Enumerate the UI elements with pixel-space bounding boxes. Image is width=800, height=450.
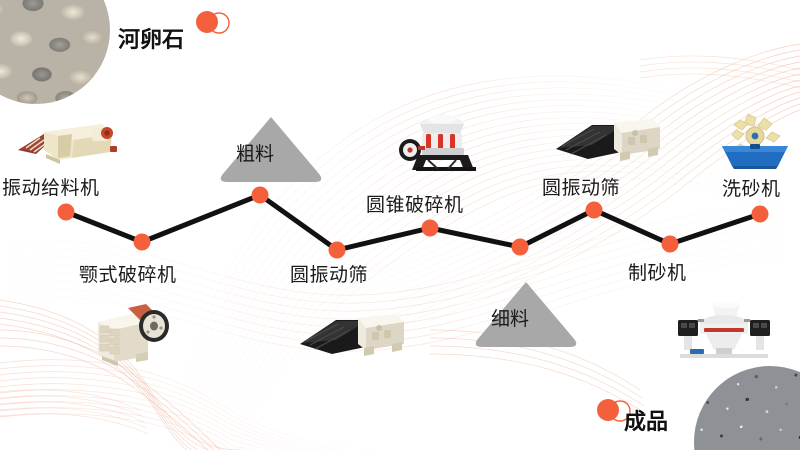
label-vibrating-screen-right: 圆振动筛: [542, 173, 620, 200]
flow-node-dot: [752, 206, 769, 223]
flow-node-dot: [422, 220, 439, 237]
flow-node-dot: [586, 202, 603, 219]
flow-node-dot: [134, 234, 151, 251]
flow-node-dot: [662, 236, 679, 253]
label-jaw-crusher: 颚式破碎机: [79, 260, 177, 287]
label-vibrating-screen-left: 圆振动筛: [290, 260, 368, 287]
label-vibrating-feeder: 振动给料机: [2, 173, 100, 200]
process-flow-diagram: 河卵石 粗料 细料: [0, 0, 800, 450]
flow-node-dot: [329, 242, 346, 259]
label-cone-crusher: 圆锥破碎机: [366, 190, 464, 217]
flow-node-dot: [252, 187, 269, 204]
flow-node-dot: [58, 204, 75, 221]
finished-product-label: 成品: [624, 404, 668, 436]
flow-node-dot: [512, 239, 529, 256]
process-flow-polyline: [0, 0, 800, 450]
label-sand-maker: 制砂机: [628, 258, 687, 285]
label-sand-washer: 洗砂机: [722, 174, 781, 201]
